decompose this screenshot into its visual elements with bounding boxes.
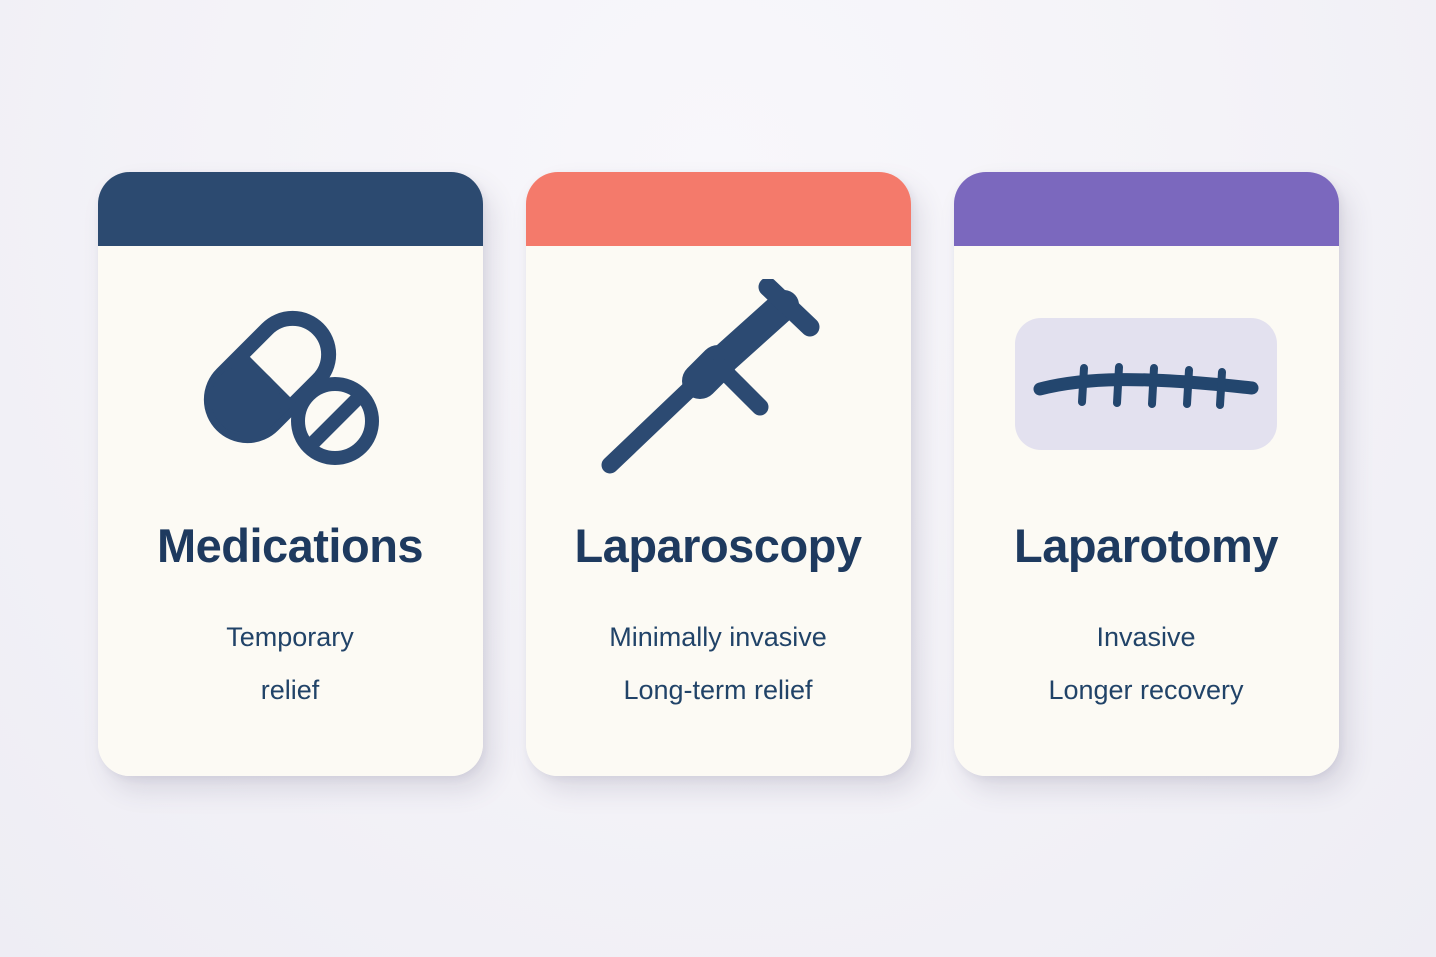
pill-capsule-tablet-icon: [175, 289, 405, 479]
suture-plate-background: [1015, 318, 1277, 450]
card-subtitle-medications: Temporary relief: [226, 611, 354, 716]
card-title-laparoscopy: Laparoscopy: [574, 522, 861, 569]
icon-area-laparotomy: [954, 246, 1339, 522]
sutured-incision-icon: [1030, 349, 1262, 419]
laparoscope-instrument-icon: [588, 279, 848, 489]
card-laparoscopy[interactable]: Laparoscopy Minimally invasive Long-term…: [526, 172, 911, 776]
card-body-laparotomy: Laparotomy Invasive Longer recovery: [954, 246, 1339, 776]
card-header-medications: [98, 172, 483, 246]
card-subtitle-laparoscopy: Minimally invasive Long-term relief: [609, 611, 827, 716]
card-header-laparotomy: [954, 172, 1339, 246]
card-body-medications: Medications Temporary relief: [98, 246, 483, 776]
card-subtitle-line: Minimally invasive: [609, 611, 827, 664]
card-body-laparoscopy: Laparoscopy Minimally invasive Long-term…: [526, 246, 911, 776]
icon-area-laparoscopy: [526, 246, 911, 522]
card-header-laparoscopy: [526, 172, 911, 246]
card-subtitle-line: Long-term relief: [609, 664, 827, 717]
comparison-cards-row: Medications Temporary relief: [0, 0, 1436, 957]
card-subtitle-line: relief: [226, 664, 354, 717]
card-subtitle-line: Temporary: [226, 611, 354, 664]
card-laparotomy[interactable]: Laparotomy Invasive Longer recovery: [954, 172, 1339, 776]
card-subtitle-line: Longer recovery: [1048, 664, 1243, 717]
card-title-laparotomy: Laparotomy: [1014, 522, 1278, 569]
icon-area-medications: [98, 246, 483, 522]
card-subtitle-laparotomy: Invasive Longer recovery: [1048, 611, 1243, 716]
card-title-medications: Medications: [157, 522, 423, 569]
card-medications[interactable]: Medications Temporary relief: [98, 172, 483, 776]
card-subtitle-line: Invasive: [1048, 611, 1243, 664]
